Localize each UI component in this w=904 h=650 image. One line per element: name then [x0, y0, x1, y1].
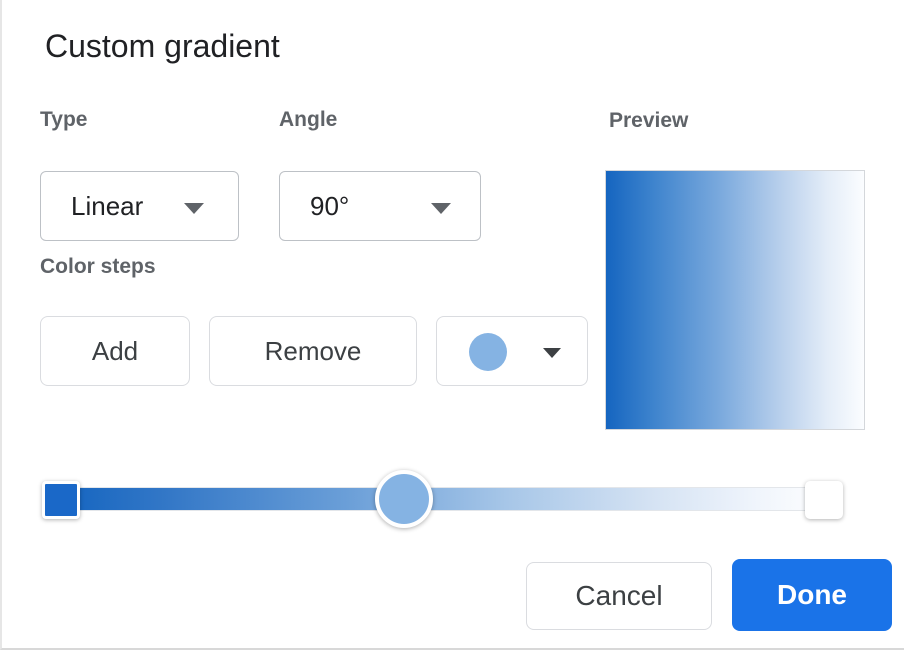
angle-select[interactable]: 90°: [279, 171, 481, 241]
gradient-preview-fill: [606, 171, 864, 429]
cancel-button[interactable]: Cancel: [526, 562, 712, 630]
type-label: Type: [40, 108, 87, 132]
dialog-title: Custom gradient: [45, 28, 280, 65]
color-swatch-circle-icon: [469, 333, 507, 371]
angle-select-value: 90°: [310, 191, 349, 222]
chevron-down-icon: [543, 348, 561, 358]
remove-color-step-button[interactable]: Remove: [209, 316, 417, 386]
chevron-down-icon: [431, 203, 451, 214]
angle-label: Angle: [279, 108, 337, 132]
gradient-stop-handle-end[interactable]: [805, 481, 843, 519]
gradient-stops-slider[interactable]: [42, 466, 837, 532]
color-steps-label: Color steps: [40, 255, 156, 279]
done-button[interactable]: Done: [732, 559, 892, 631]
gradient-stop-handle-start[interactable]: [42, 481, 80, 519]
chevron-down-icon: [184, 203, 204, 214]
type-select-value: Linear: [71, 191, 143, 222]
preview-label: Preview: [609, 109, 688, 133]
gradient-preview: [605, 170, 865, 430]
type-select[interactable]: Linear: [40, 171, 239, 241]
add-color-step-button[interactable]: Add: [40, 316, 190, 386]
gradient-stop-handle-middle[interactable]: [375, 470, 433, 528]
color-picker-dropdown[interactable]: [436, 316, 588, 386]
custom-gradient-dialog: Custom gradient Type Linear Angle 90° Pr…: [0, 0, 904, 650]
gradient-slider-track[interactable]: [61, 487, 836, 511]
